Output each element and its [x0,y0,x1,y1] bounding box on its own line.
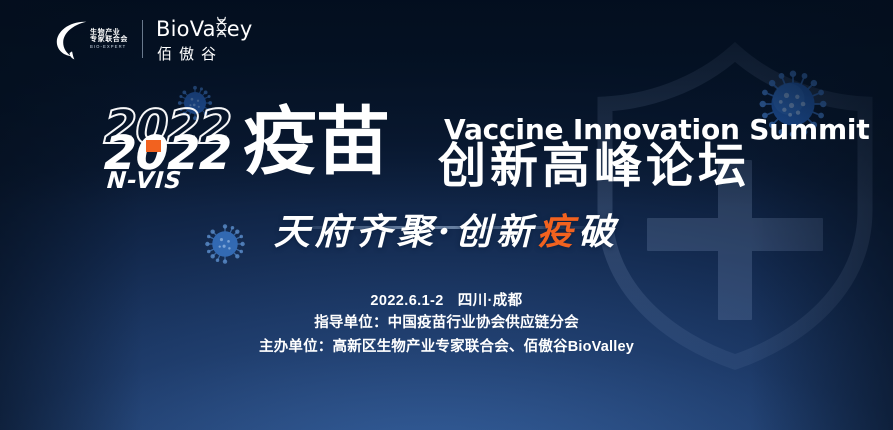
biovalley-wordmark-part2: ey [227,19,253,40]
event-location: 四川·成都 [458,293,523,309]
swoosh-arc-icon [52,17,92,61]
slogan-calligraphy: 天府齐聚·创新疫破 [0,203,893,255]
event-date-location: 2022.6.1-2四川·成都 [0,290,893,312]
year-orange-accent [146,140,161,152]
conference-poster: 生物产业 专家联合会 BIO-EXPERT BioVa [0,0,893,430]
biovalley-wordmark-part1: BioVa [156,19,216,40]
association-name-en: BIO-EXPERT [90,45,128,50]
guidance-unit-line: 指导单位：中国疫苗行业协会供应链分会 [0,312,893,335]
footer-info: 2022.6.1-2四川·成都 指导单位：中国疫苗行业协会供应链分会 主办单位：… [0,290,893,359]
logo-divider [142,20,143,58]
headline-cn-vaccine: 疫苗 [243,106,389,179]
event-code-text: N-VIS [106,170,183,193]
logo-bar: 生物产业 专家联合会 BIO-EXPERT BioVa [52,14,252,64]
biovalley-wordmark-cn: 佰傲谷 [156,43,252,64]
event-date: 2022.6.1-2 [370,293,443,309]
association-name-line2: 专家联合会 [90,36,128,44]
host-unit-line: 主办单位：高新区生物产业专家联合会、佰傲谷BioValley [0,336,893,359]
association-logo: 生物产业 专家联合会 BIO-EXPERT [52,17,128,61]
slogan-part1: 天府齐聚·创新 [274,211,538,253]
headline-block: 2022 2022 N-VIS 疫苗 Vaccine Innovation Su… [0,104,893,200]
biovalley-logo: BioVa ey 佰傲谷 [156,14,252,64]
slogan-highlight: 疫 [537,211,578,253]
dna-helix-icon [215,16,228,38]
slogan-part2: 破 [578,211,619,253]
association-logo-text: 生物产业 专家联合会 BIO-EXPERT [90,29,128,50]
year-logo-block: 2022 2022 N-VIS [104,104,264,196]
headline-cn-summit: 创新高峰论坛 [438,142,750,190]
biovalley-wordmark: BioVa ey [156,14,252,40]
